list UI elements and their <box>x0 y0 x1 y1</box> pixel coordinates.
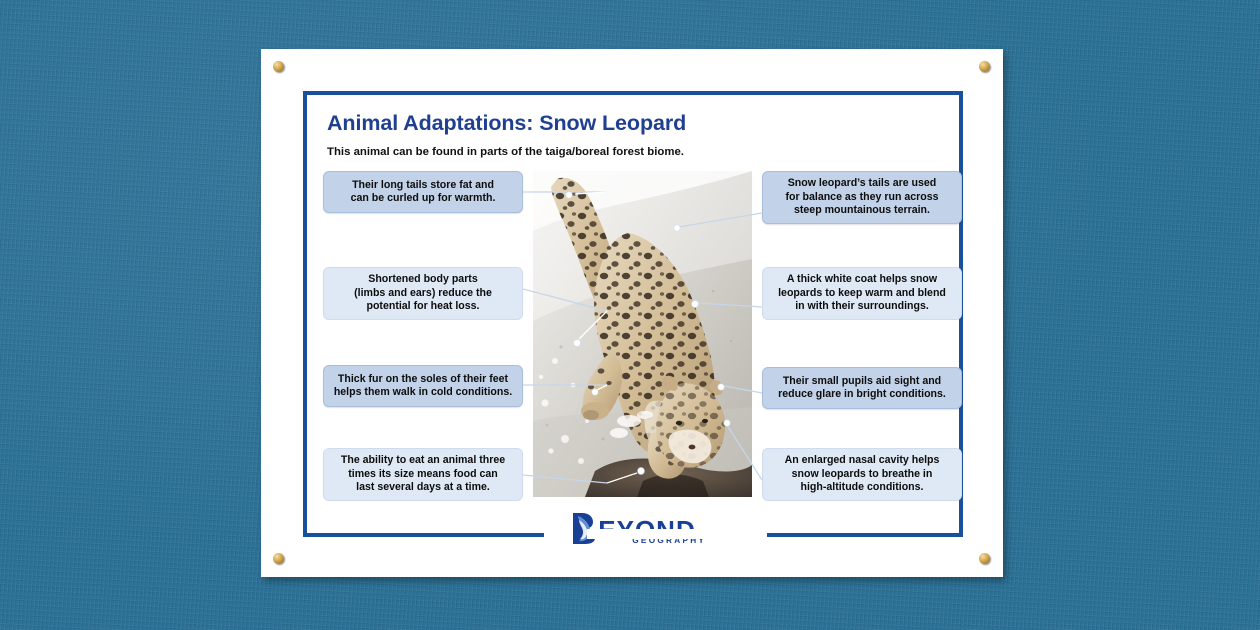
callout-enlarged-nasal-cavity[interactable]: An enlarged nasal cavity helps snow leop… <box>762 448 962 501</box>
pin-bottom-left <box>273 553 284 564</box>
poster-sheet: Animal Adaptations: Snow Leopard This an… <box>261 49 1003 577</box>
callout-tail-balance[interactable]: Snow leopard’s tails are used for balanc… <box>762 171 962 224</box>
callout-line: can be curled up for warmth. <box>351 192 496 205</box>
pin-bottom-right <box>979 553 990 564</box>
callout-line: Shortened body parts <box>354 273 492 286</box>
page-title: Animal Adaptations: Snow Leopard <box>327 111 686 136</box>
pin-top-right <box>979 61 990 72</box>
callout-line: An enlarged nasal cavity helps <box>785 454 940 467</box>
stylized-b-icon <box>570 511 597 545</box>
callout-line: in with their surroundings. <box>778 300 946 313</box>
callout-shortened-body-parts[interactable]: Shortened body parts (limbs and ears) re… <box>323 267 523 320</box>
callout-line: helps them walk in cold conditions. <box>334 386 512 399</box>
snow-leopard-photo <box>533 171 752 497</box>
callout-line: (limbs and ears) reduce the <box>354 287 492 300</box>
callout-line: last several days at a time. <box>341 481 505 494</box>
callout-line: potential for heat loss. <box>354 300 492 313</box>
callout-line: steep mountainous terrain. <box>785 204 938 217</box>
subtitle-suffix: biome. <box>644 146 684 158</box>
callout-line: A thick white coat helps snow <box>778 273 946 286</box>
callout-line: Snow leopard’s tails are used <box>785 177 938 190</box>
poster-frame: Animal Adaptations: Snow Leopard This an… <box>303 91 963 537</box>
subtitle-biome: taiga/boreal forest <box>545 146 644 158</box>
callout-line: times its size means food can <box>341 468 505 481</box>
callout-line: The ability to eat an animal three <box>341 454 505 467</box>
pin-top-left <box>273 61 284 72</box>
callout-line: for balance as they run across <box>785 191 938 204</box>
callout-small-pupils[interactable]: Their small pupils aid sight and reduce … <box>762 367 962 409</box>
page-subtitle: This animal can be found in parts of the… <box>327 146 684 158</box>
callout-eat-large-prey[interactable]: The ability to eat an animal three times… <box>323 448 523 501</box>
callout-line: Thick fur on the soles of their feet <box>334 373 512 386</box>
callout-line: Their long tails store fat and <box>351 179 496 192</box>
subtitle-prefix: This animal can be found in parts of the <box>327 146 545 158</box>
callout-line: reduce glare in bright conditions. <box>778 388 946 401</box>
callout-thick-fur-soles[interactable]: Thick fur on the soles of their feet hel… <box>323 365 523 407</box>
callout-line: snow leopards to breathe in <box>785 468 940 481</box>
callout-tail-fat[interactable]: Their long tails store fat and can be cu… <box>323 171 523 213</box>
callout-thick-white-coat[interactable]: A thick white coat helps snow leopards t… <box>762 267 962 320</box>
callout-line: Their small pupils aid sight and <box>778 375 946 388</box>
frame-gap-behind-logo <box>587 529 767 539</box>
callout-line: leopards to keep warm and blend <box>778 287 946 300</box>
callout-line: high-altitude conditions. <box>785 481 940 494</box>
